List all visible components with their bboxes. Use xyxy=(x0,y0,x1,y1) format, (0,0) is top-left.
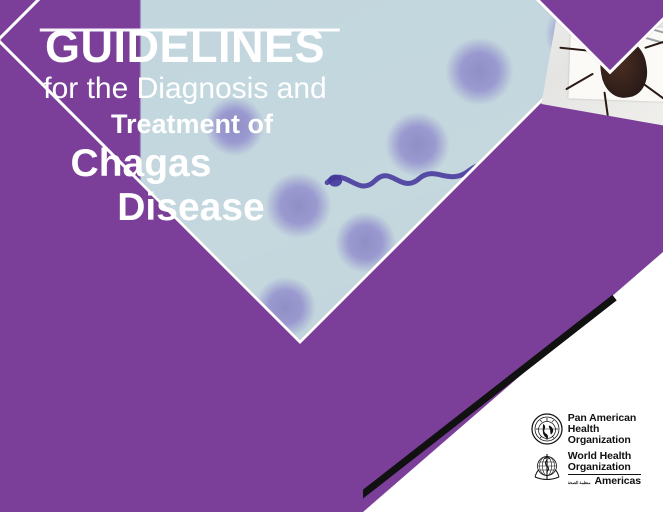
title-line-chagas: Chagas xyxy=(0,142,370,186)
who-region-script: منظمة الصحة xyxy=(568,480,591,486)
who-region-label: Americas xyxy=(595,476,641,487)
title-line-guidelines: GUIDELINES xyxy=(0,22,370,72)
who-logo: World Health Organization منظمة الصحة Am… xyxy=(531,451,641,487)
who-logo-text: World Health Organization منظمة الصحة Am… xyxy=(568,451,641,487)
who-region-row: منظمة الصحة Americas xyxy=(568,476,641,487)
title-line-treatment: Treatment of xyxy=(0,106,370,142)
title-line-disease: Disease xyxy=(0,186,370,230)
paho-globe-icon xyxy=(531,413,563,445)
who-line-2: Organization xyxy=(568,462,641,473)
title-line-subtitle: for the Diagnosis and xyxy=(0,72,370,106)
who-name-block: World Health Organization xyxy=(568,451,641,475)
paho-line-3: Organization xyxy=(568,435,636,446)
cover-title-block: GUIDELINES for the Diagnosis and Treatme… xyxy=(0,22,370,230)
organization-logos: Pan American Health Organization World H… xyxy=(531,413,641,492)
paho-logo: Pan American Health Organization xyxy=(531,413,641,446)
who-emblem-icon xyxy=(531,451,563,483)
paho-logo-text: Pan American Health Organization xyxy=(568,413,636,446)
publication-cover: vidae GUIDELINES for the Diagnosis and T… xyxy=(0,0,663,512)
